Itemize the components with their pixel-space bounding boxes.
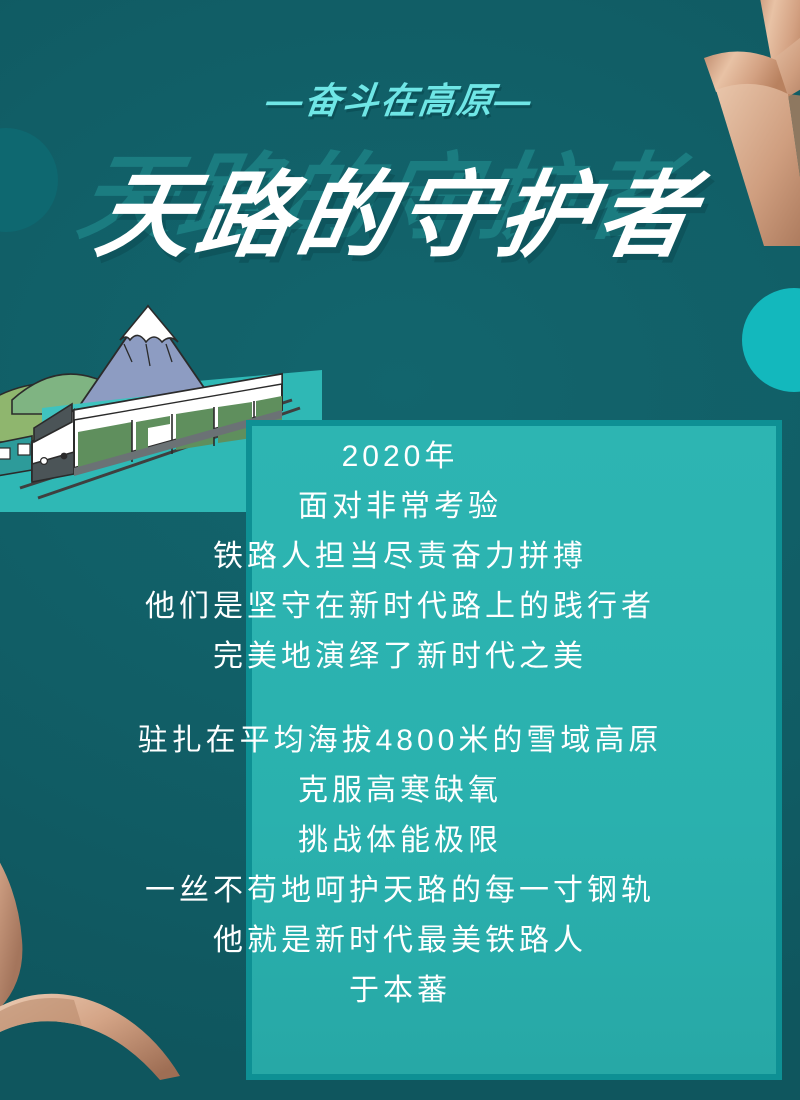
body-line: 他就是新时代最美铁路人: [0, 916, 800, 966]
body-line: 一丝不苟地呵护天路的每一寸钢轨: [0, 866, 800, 916]
poster-title-group: 天路的守护者 天路的守护者: [0, 140, 800, 270]
body-line: 面对非常考验: [0, 482, 800, 532]
poster-canvas: —奋斗在高原— 天路的守护者 天路的守护者: [0, 0, 800, 1100]
paragraph-spacer: [0, 682, 800, 716]
cyan-circle-decoration: [742, 288, 800, 392]
body-line: 克服高寒缺氧: [0, 766, 800, 816]
body-line: 完美地演绎了新时代之美: [0, 632, 800, 682]
body-line: 他们是坚守在新时代路上的践行者: [0, 582, 800, 632]
page-title: 天路的守护者: [0, 140, 800, 276]
body-line: 驻扎在平均海拔4800米的雪域高原: [0, 716, 800, 766]
body-line: 挑战体能极限: [0, 816, 800, 866]
body-copy: 2020年 面对非常考验 铁路人担当尽责奋力拼搏 他们是坚守在新时代路上的践行者…: [0, 432, 800, 1016]
body-line: 2020年: [0, 432, 800, 482]
poster-subtitle: —奋斗在高原—: [0, 72, 800, 124]
body-line: 铁路人担当尽责奋力拼搏: [0, 532, 800, 582]
body-line-name: 于本蕃: [0, 966, 800, 1016]
